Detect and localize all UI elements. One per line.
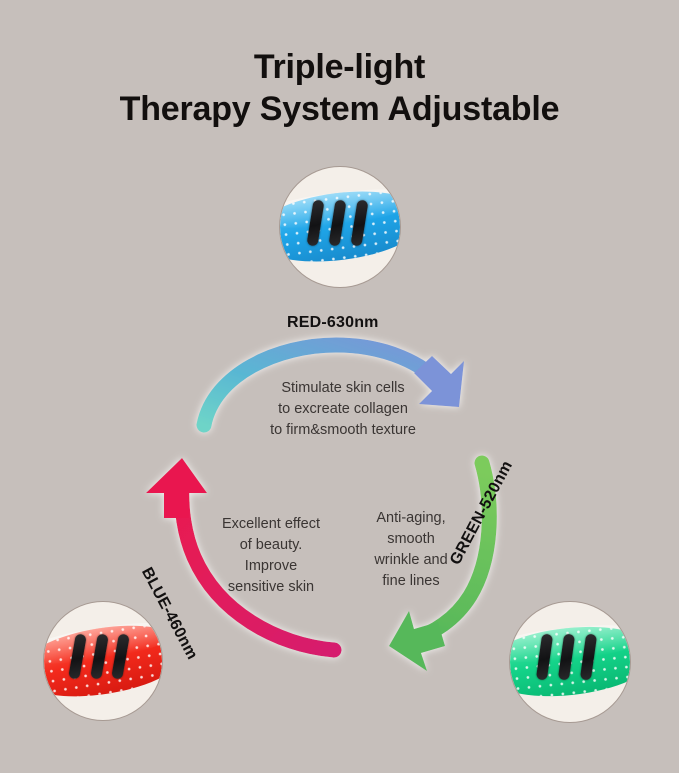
photo-inner-bottom-right (510, 602, 630, 722)
caption-green-line-2: smooth (352, 529, 470, 550)
title-line-2: Therapy System Adjustable (0, 88, 679, 130)
caption-red-line-3: to firm&smooth texture (250, 420, 436, 441)
caption-green-line-1: Anti-aging, (352, 508, 470, 529)
caption-green: Anti-aging, smooth wrinkle and fine line… (352, 508, 470, 592)
blue-led-mask-photo (280, 167, 400, 287)
photo-inner-bottom-left (44, 602, 162, 720)
caption-blue-line-3: Improve (203, 556, 339, 577)
infographic-canvas: Triple-light Therapy System Adjustable (0, 0, 679, 773)
caption-blue-line-1: Excellent effect (203, 514, 339, 535)
caption-blue: Excellent effect of beauty. Improve sens… (203, 514, 339, 598)
caption-red-line-2: to excreate collagen (250, 399, 436, 420)
caption-blue-line-2: of beauty. (203, 535, 339, 556)
title-line-1: Triple-light (0, 46, 679, 88)
red-led-mask-photo (44, 602, 162, 720)
caption-blue-line-4: sensitive skin (203, 577, 339, 598)
wavelength-label-red: RED-630nm (287, 314, 379, 332)
caption-red-line-1: Stimulate skin cells (250, 378, 436, 399)
green-led-mask-photo (510, 602, 630, 722)
page-title: Triple-light Therapy System Adjustable (0, 46, 679, 130)
caption-red: Stimulate skin cells to excreate collage… (250, 378, 436, 441)
caption-green-line-3: wrinkle and (352, 550, 470, 571)
photo-inner-top (280, 167, 400, 287)
caption-green-line-4: fine lines (352, 571, 470, 592)
